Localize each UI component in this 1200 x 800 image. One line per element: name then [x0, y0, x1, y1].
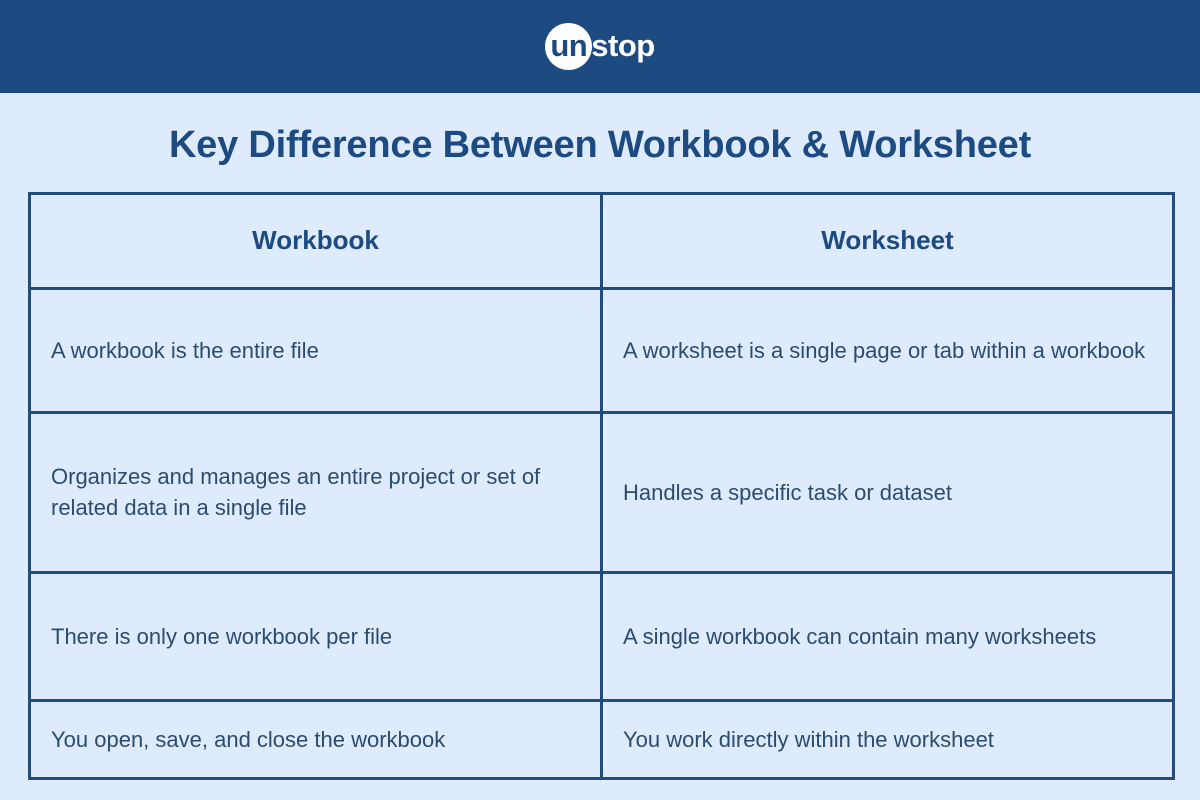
- cell-workbook-3: There is only one workbook per file: [30, 572, 602, 700]
- table-header: Workbook Worksheet: [30, 193, 1174, 288]
- table-row: You open, save, and close the workbook Y…: [30, 700, 1174, 778]
- comparison-table-wrapper: Workbook Worksheet A workbook is the ent…: [28, 192, 1172, 780]
- comparison-table: Workbook Worksheet A workbook is the ent…: [28, 192, 1175, 780]
- cell-worksheet-2: Handles a specific task or dataset: [602, 412, 1174, 572]
- table-row: A workbook is the entire file A workshee…: [30, 288, 1174, 412]
- cell-worksheet-3: A single workbook can contain many works…: [602, 572, 1174, 700]
- table-header-row: Workbook Worksheet: [30, 193, 1174, 288]
- brand-header-bar: un stop: [0, 0, 1200, 93]
- column-header-worksheet: Worksheet: [602, 193, 1174, 288]
- table-row: There is only one workbook per file A si…: [30, 572, 1174, 700]
- cell-worksheet-4: You work directly within the worksheet: [602, 700, 1174, 778]
- logo-circle-icon: un: [545, 23, 592, 70]
- cell-workbook-2: Organizes and manages an entire project …: [30, 412, 602, 572]
- table-body: A workbook is the entire file A workshee…: [30, 288, 1174, 778]
- unstop-logo[interactable]: un stop: [545, 21, 654, 73]
- table-row: Organizes and manages an entire project …: [30, 412, 1174, 572]
- column-header-workbook: Workbook: [30, 193, 602, 288]
- page-title: Key Difference Between Workbook & Worksh…: [0, 93, 1200, 168]
- cell-workbook-4: You open, save, and close the workbook: [30, 700, 602, 778]
- logo-un-text: un: [550, 30, 587, 63]
- logo-stop-text: stop: [590, 30, 654, 63]
- cell-workbook-1: A workbook is the entire file: [30, 288, 602, 412]
- cell-worksheet-1: A worksheet is a single page or tab with…: [602, 288, 1174, 412]
